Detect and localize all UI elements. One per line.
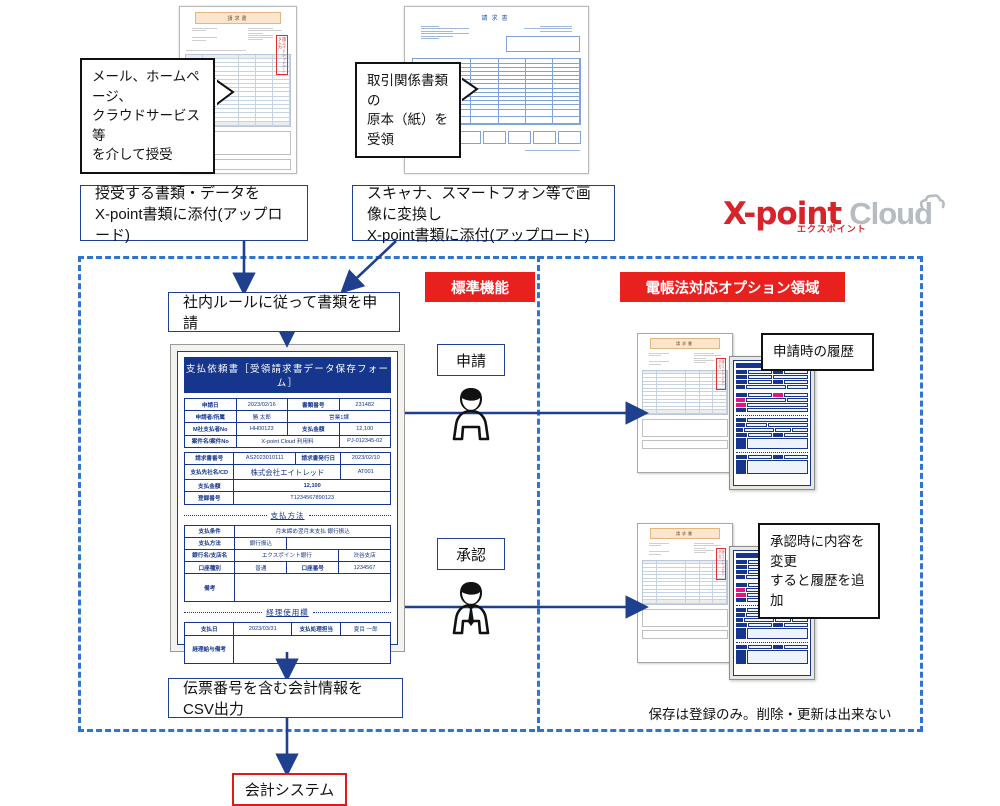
approver-person-icon bbox=[448, 578, 494, 636]
table-row: 請求書番号 AS2023010111 請求書発行日 2023/02/10 bbox=[185, 452, 391, 464]
table-row: 支払先社名/CD 株式会社エイトレッド AT001 bbox=[185, 464, 391, 479]
thumb-invoice-title: 請求書 bbox=[650, 338, 720, 349]
note-save-only: 保存は登録のみ。削除・更新は出来ない bbox=[620, 703, 920, 723]
applicant-person-icon bbox=[448, 384, 494, 442]
table-row: 登録番号 T1234567890123 bbox=[185, 492, 391, 504]
table-row: 口座種別 普通 口座番号 1234567 bbox=[185, 562, 391, 574]
form-accounting-table: 支払日 2023/03/31 支払処理担当 夏目 一郎 経理給与備考 bbox=[184, 622, 391, 663]
red-stamp-icon: 請エイトレッドデータ入力 bbox=[276, 35, 288, 75]
process-scan-attach[interactable]: スキャナ、スマートフォン等で画像に変換し X-point書類に添付(アップロード… bbox=[352, 185, 615, 241]
accounting-system-box[interactable]: 会計システム bbox=[232, 773, 347, 806]
table-row: 経理給与備考 bbox=[185, 635, 391, 663]
process-apply-by-rule[interactable]: 社内ルールに従って書類を申請 bbox=[168, 292, 400, 332]
xpoint-cloud-logo: X-point Cloud エクスポイント bbox=[723, 196, 963, 242]
process-attach-data[interactable]: 授受する書類・データを X-point書類に添付(アップロード) bbox=[80, 185, 308, 241]
history-scanned-doc-1: 請求書 請エイトレッドデータ入力 bbox=[637, 333, 733, 473]
accounting-section-separator: 経理使用欄 bbox=[184, 607, 391, 618]
step-approve-box[interactable]: 承認 bbox=[437, 538, 505, 570]
payment-method-separator: 支払方法 bbox=[184, 510, 391, 521]
red-stamp-icon: 請エイトレッドデータ入力 bbox=[716, 358, 726, 390]
table-row: 案件名/案件No X-point Cloud 利用料 PJ-012345-02 bbox=[185, 435, 391, 447]
history-form-thumb-1 bbox=[729, 356, 815, 490]
table-row: 支払日 2023/03/31 支払処理担当 夏目 一郎 bbox=[185, 623, 391, 635]
red-stamp-icon: 請エイトレッドデータ入力 bbox=[716, 548, 726, 580]
callout-history-approve: 承認時に内容を変更 すると履歴を追加 bbox=[758, 523, 880, 619]
region-divider bbox=[537, 256, 540, 732]
table-row: 申請日 2023/02/16 書類番号 231482 bbox=[185, 399, 391, 411]
process-csv-output[interactable]: 伝票番号を含む会計情報をCSV出力 bbox=[168, 678, 403, 718]
callout-email-receipt: メール、ホームページ、 クラウドサービス等 を介して授受 bbox=[80, 58, 215, 174]
table-row: M社支払者No HH00123 支払金額 12,100 bbox=[185, 423, 391, 435]
callout-history-apply: 申請時の履歴 bbox=[761, 333, 874, 371]
logo-kana-text: エクスポイント bbox=[797, 222, 867, 235]
table-row: 申請者/所属 勝 太郎 営業1課 bbox=[185, 411, 391, 423]
table-row: 銀行名/支店名 エクスポイント銀行 渋谷支店 bbox=[185, 549, 391, 561]
payment-request-form[interactable]: 支払依頼書［受領請求書データ保存フォーム］ 申請日 2023/02/16 書類番… bbox=[170, 344, 405, 652]
form-invoice-table: 請求書番号 AS2023010111 請求書発行日 2023/02/10 支払先… bbox=[184, 452, 391, 505]
diagram-canvas: 請求書 請エイトレッドデータ入力 bbox=[0, 0, 1000, 800]
accounting-section-caption: 経理使用欄 bbox=[266, 607, 309, 618]
table-row: 支払金額 12,100 bbox=[185, 480, 391, 492]
form-title: 支払依頼書［受領請求書データ保存フォーム］ bbox=[184, 357, 391, 393]
thumb-invoice-title: 請求書 bbox=[650, 528, 720, 539]
banner-option-area: 電帳法対応オプション領域 bbox=[620, 272, 845, 302]
callout-paper-receipt: 取引関係書類の 原本（紙）を受領 bbox=[355, 62, 461, 158]
banner-standard-function: 標準機能 bbox=[425, 272, 535, 302]
invoice-doc-title: 請求書 bbox=[195, 12, 281, 24]
cloud-icon bbox=[919, 194, 945, 210]
table-row: 備考 bbox=[185, 574, 391, 602]
paper-invoice-title: 請求書 bbox=[405, 13, 588, 22]
payment-method-caption: 支払方法 bbox=[271, 510, 305, 521]
step-apply-box[interactable]: 申請 bbox=[437, 344, 505, 376]
history-scanned-doc-2: 請求書 請エイトレッドデータ入力 bbox=[637, 523, 733, 663]
form-header-table: 申請日 2023/02/16 書類番号 231482 申請者/所属 勝 太郎 営… bbox=[184, 398, 391, 448]
form-payment-table: 支払条件 月末締め翌月末支払 銀行振込 支払方法 銀行振込 銀行名/支店名 エク… bbox=[184, 525, 391, 603]
table-row: 支払方法 銀行振込 bbox=[185, 537, 391, 549]
table-row: 支払条件 月末締め翌月末支払 銀行振込 bbox=[185, 525, 391, 537]
